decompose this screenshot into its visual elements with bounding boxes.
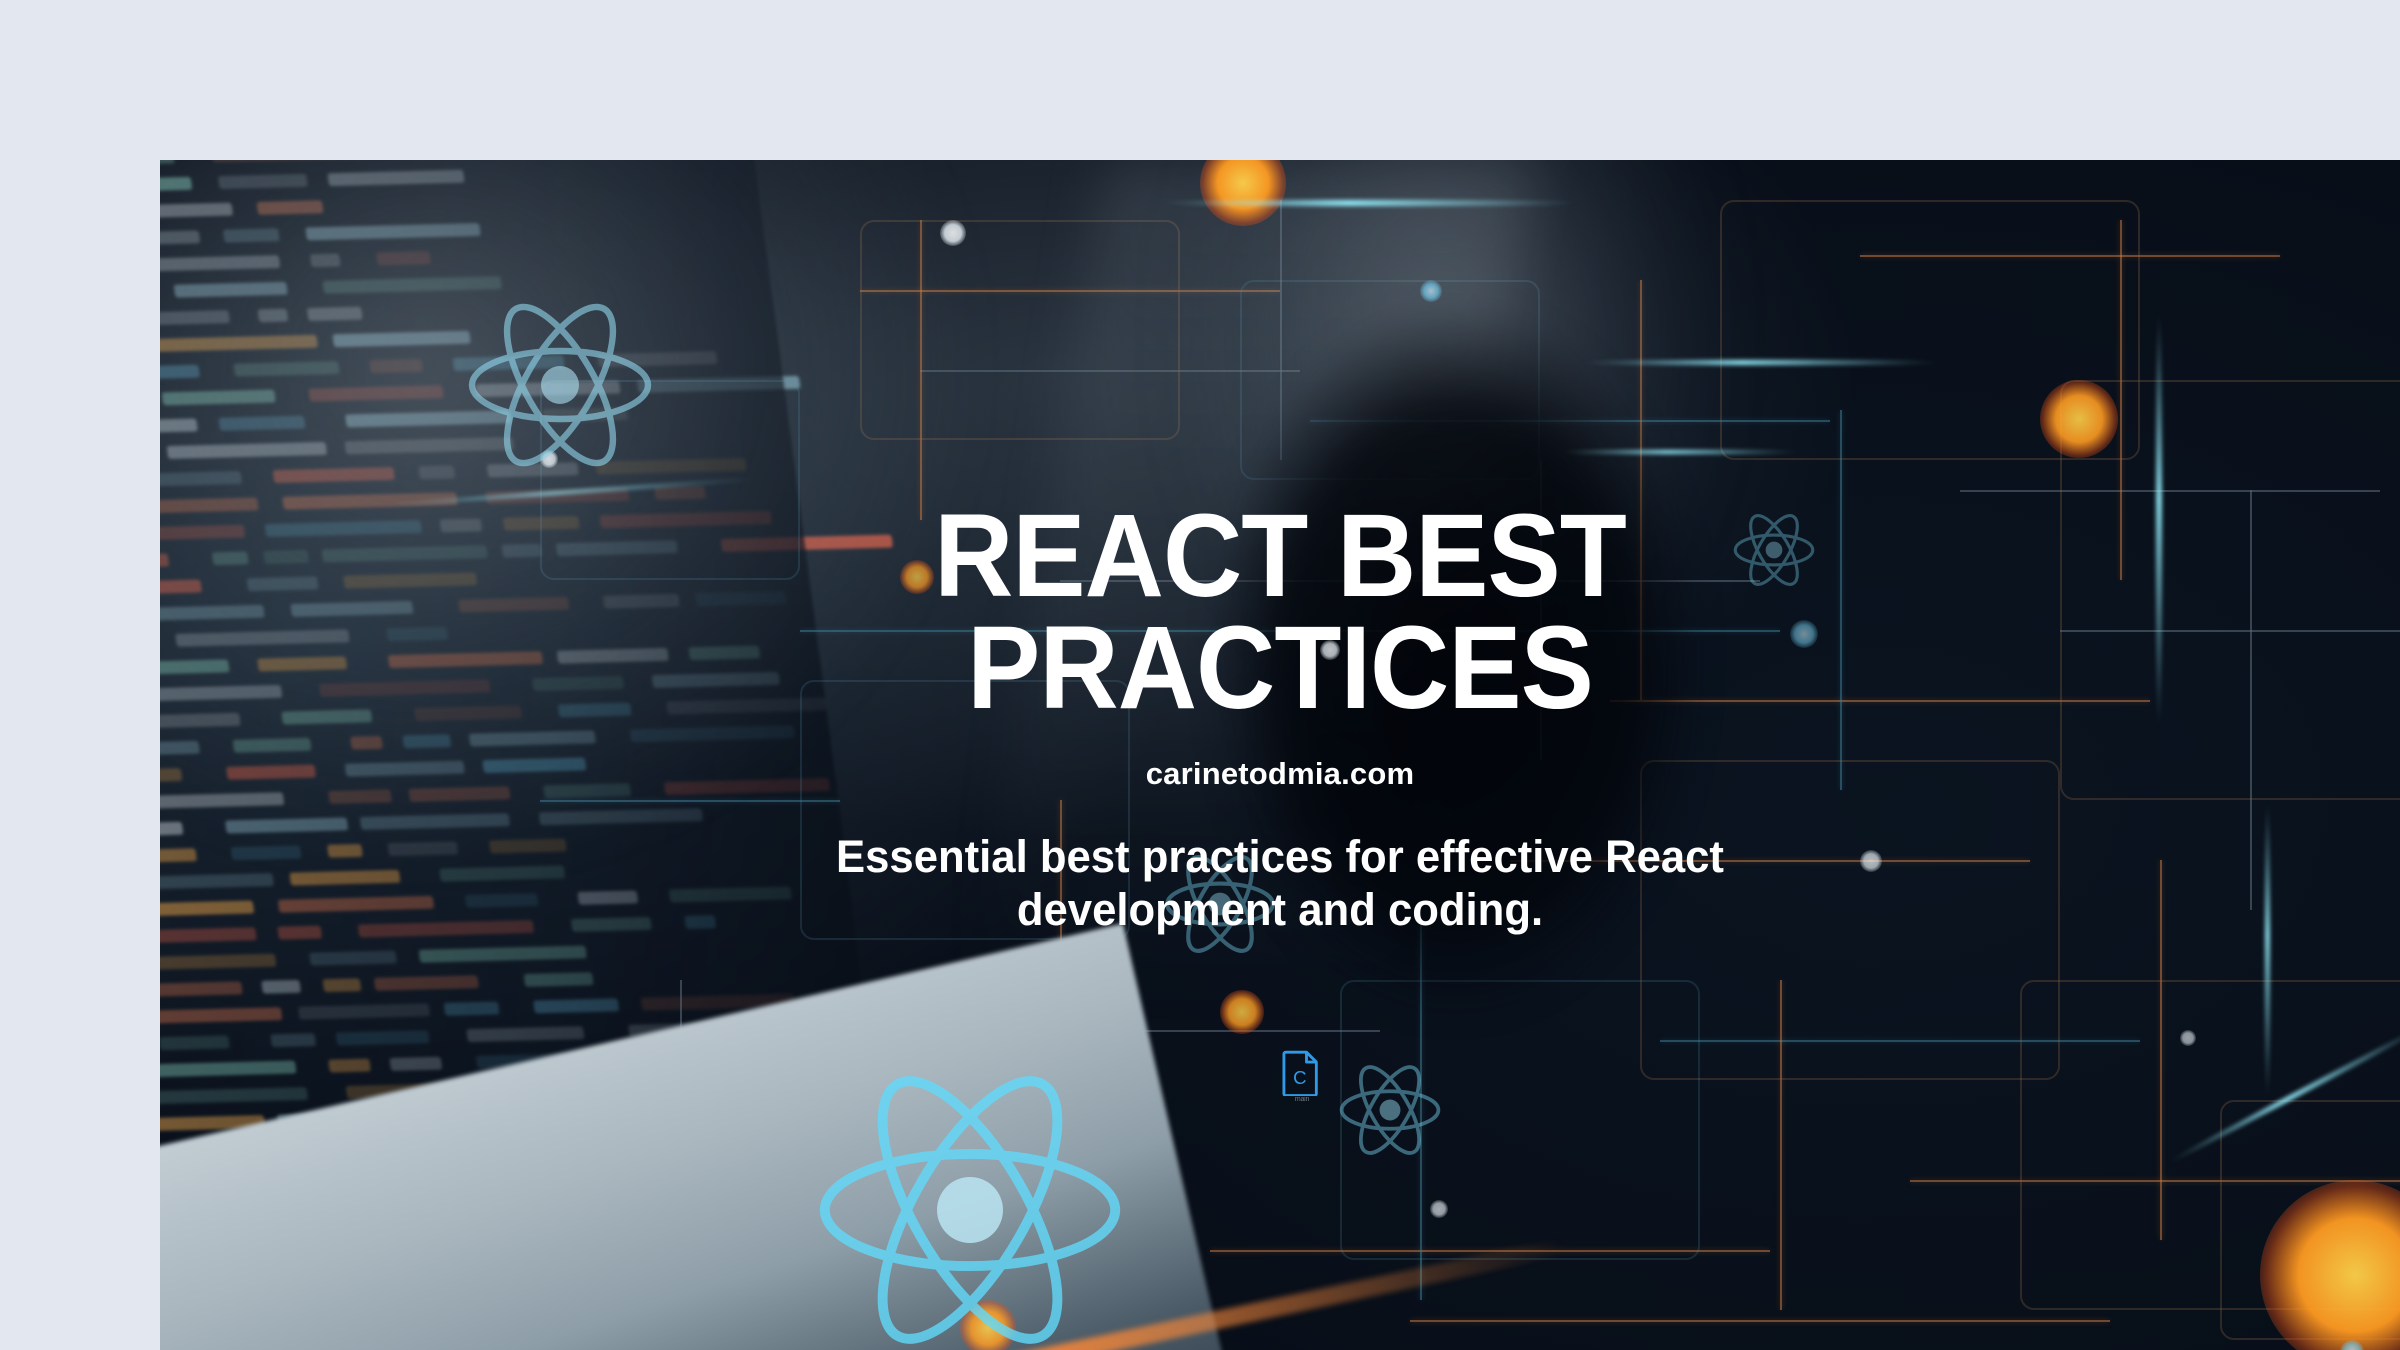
c-file-icon-caption: main <box>1273 1096 1331 1103</box>
hero-banner: React Best Practices carinetodmia.com Es… <box>160 160 2400 1350</box>
page-root: React Best Practices carinetodmia.com Es… <box>0 0 2400 1350</box>
svg-text:C: C <box>1293 1067 1306 1088</box>
hero-text-block: React Best Practices carinetodmia.com Es… <box>160 160 2400 1350</box>
hero-subtitle: Essential best practices for effective R… <box>737 830 1823 936</box>
domain-label: carinetodmia.com <box>1146 756 1415 792</box>
page-title: React Best Practices <box>769 500 1792 724</box>
c-file-icon[interactable]: C <box>1282 1050 1320 1096</box>
